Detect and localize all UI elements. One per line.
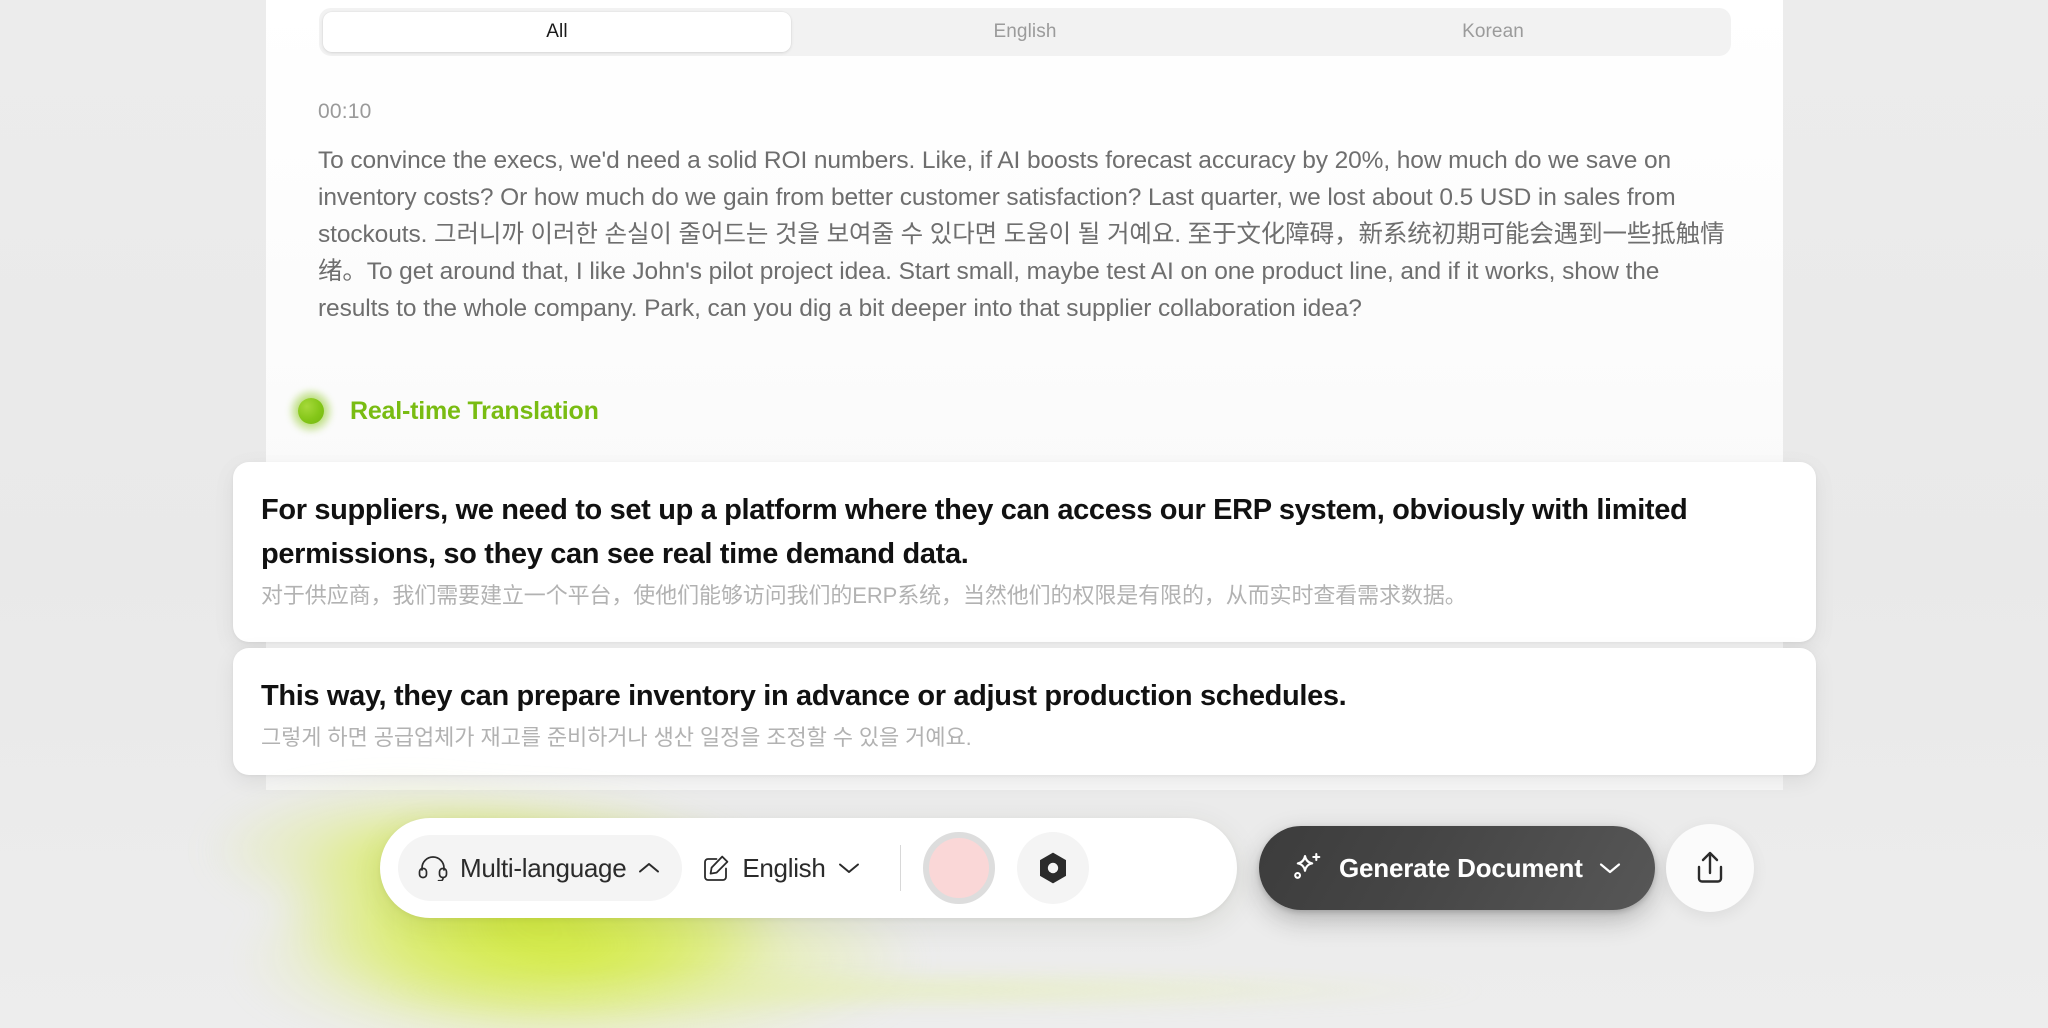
output-language-selector[interactable]: English bbox=[682, 835, 875, 901]
share-upload-icon bbox=[1693, 850, 1727, 886]
output-language-label: English bbox=[742, 853, 825, 884]
lime-glow-decoration-secondary bbox=[230, 960, 1660, 1028]
translation-card-main-text: This way, they can prepare inventory in … bbox=[261, 674, 1788, 718]
translation-card-main-text: For suppliers, we need to set up a platf… bbox=[261, 488, 1788, 576]
language-mode-selector[interactable]: Multi-language bbox=[398, 835, 682, 901]
translation-card[interactable]: This way, they can prepare inventory in … bbox=[233, 648, 1816, 775]
tab-english[interactable]: English bbox=[791, 12, 1259, 52]
live-indicator-icon bbox=[288, 388, 334, 434]
translation-card-sub-text: 그렇게 하면 공급업체가 재고를 준비하거나 생산 일정을 조정할 수 있을 거… bbox=[261, 722, 1788, 754]
hexagon-stop-icon bbox=[1037, 851, 1069, 885]
live-indicator-dot bbox=[298, 398, 324, 424]
stop-button[interactable] bbox=[1017, 832, 1089, 904]
recording-toolbar: Multi-language English bbox=[380, 818, 1237, 918]
edit-square-icon bbox=[702, 854, 730, 882]
chevron-down-icon bbox=[838, 861, 860, 875]
toolbar-divider bbox=[900, 845, 901, 891]
tab-all[interactable]: All bbox=[323, 12, 791, 52]
generate-document-button[interactable]: Generate Document bbox=[1259, 826, 1655, 910]
chevron-up-icon bbox=[638, 861, 660, 875]
realtime-translation-label: Real-time Translation bbox=[350, 397, 599, 426]
record-button[interactable] bbox=[923, 832, 995, 904]
app-screen: All English Korean 00:10 To convince the… bbox=[0, 0, 2048, 1028]
headphones-icon bbox=[418, 855, 448, 881]
sparkle-icon bbox=[1289, 851, 1323, 885]
translation-card-sub-text: 对于供应商，我们需要建立一个平台，使他们能够访问我们的ERP系统，当然他们的权限… bbox=[261, 580, 1788, 612]
language-mode-label: Multi-language bbox=[460, 853, 626, 884]
tab-korean[interactable]: Korean bbox=[1259, 12, 1727, 52]
generate-document-label: Generate Document bbox=[1339, 853, 1583, 884]
transcript-timestamp: 00:10 bbox=[318, 100, 372, 124]
transcript-body-text: To convince the execs, we'd need a solid… bbox=[318, 142, 1730, 327]
share-button[interactable] bbox=[1666, 824, 1754, 912]
translation-card[interactable]: For suppliers, we need to set up a platf… bbox=[233, 462, 1816, 642]
realtime-translation-badge: Real-time Translation bbox=[288, 388, 599, 434]
language-filter-segmented-control[interactable]: All English Korean bbox=[319, 8, 1731, 56]
chevron-down-icon bbox=[1599, 861, 1621, 875]
